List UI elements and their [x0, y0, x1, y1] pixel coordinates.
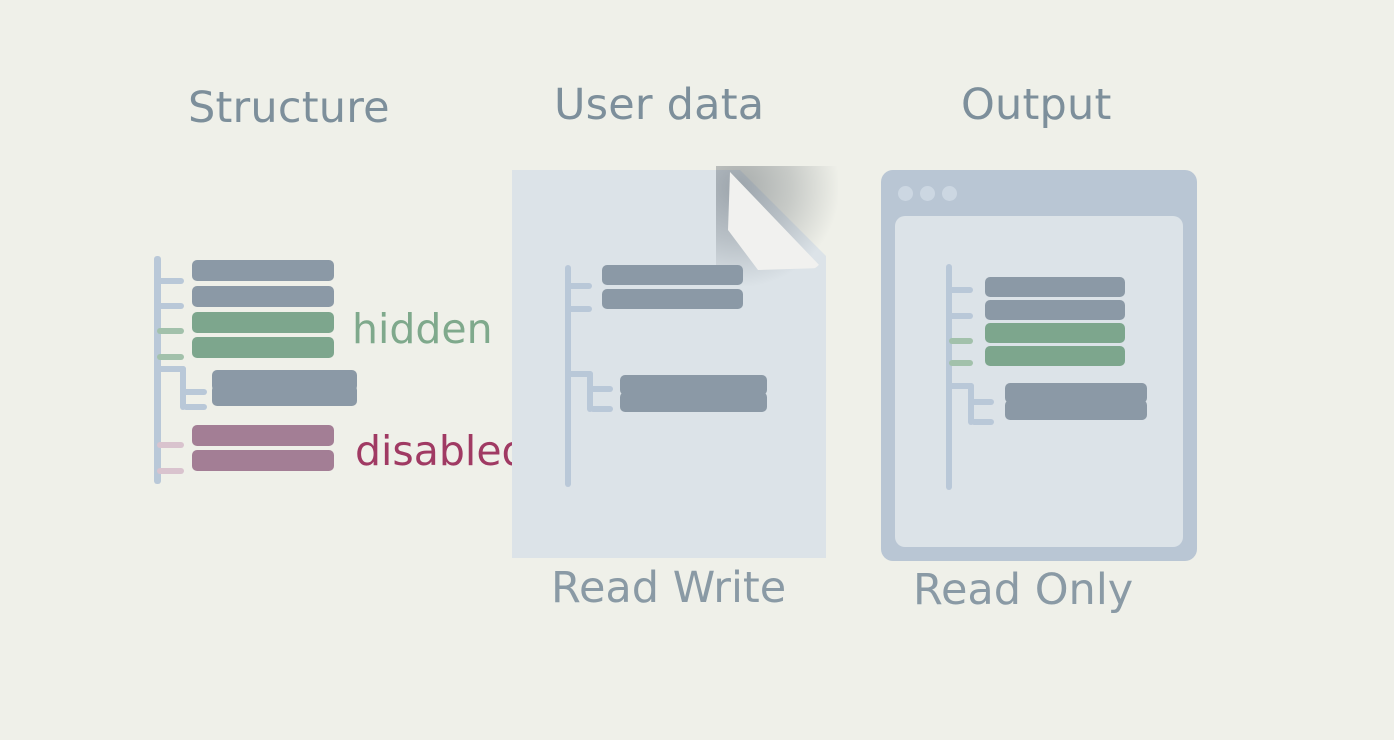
tree-row-bar-1[interactable] [602, 289, 743, 309]
tree-row-bar-5[interactable] [1005, 400, 1147, 420]
tree-row-bar-0[interactable] [985, 277, 1125, 297]
tree-row-bar-2[interactable] [192, 312, 334, 333]
tree-branch-stub-7 [157, 468, 184, 474]
column-caption-read-only: Read Only [913, 565, 1133, 615]
tree-row-bar-7[interactable] [192, 450, 334, 471]
column-heading-user-data: User data [554, 80, 764, 130]
tree-branch-stub-0 [568, 283, 592, 289]
tree-branch-stub-3 [949, 360, 973, 366]
tree-branch-stub-1 [157, 303, 184, 309]
tree-row-bar-3[interactable] [620, 392, 767, 412]
tree-branch-stub-5 [183, 404, 207, 410]
column-heading-output: Output [961, 80, 1112, 130]
tree-row-bar-6[interactable] [192, 425, 334, 446]
annotation-hidden: hidden [352, 305, 493, 353]
window-content-area [895, 216, 1183, 547]
tree-row-bar-2[interactable] [985, 323, 1125, 343]
tree-branch-stub-1 [568, 306, 592, 312]
tree-branch-stub-4 [971, 399, 994, 405]
column-caption-read-write: Read Write [551, 563, 786, 613]
tree-branch-stub-2 [590, 386, 613, 392]
tree-row-bar-1[interactable] [192, 286, 334, 307]
tree-trunk-line [946, 264, 952, 490]
tree-branch-stub-3 [157, 354, 184, 360]
tree-row-bar-0[interactable] [192, 260, 334, 281]
window-dot-close-icon[interactable] [898, 186, 913, 201]
tree-branch-stub-1 [949, 313, 973, 319]
tree-row-bar-1[interactable] [985, 300, 1125, 320]
tree-branch-stub-0 [157, 278, 184, 284]
tree-branch-stub-2 [949, 338, 973, 344]
tree-branch-stub-5 [971, 419, 994, 425]
column-heading-structure: Structure [188, 83, 390, 133]
tree-branch-stub-4 [183, 389, 207, 395]
tree-row-bar-5[interactable] [212, 385, 357, 406]
tree-branch-stub-0 [949, 287, 973, 293]
annotation-disabled: disabled [355, 427, 528, 475]
window-dot-minimize-icon[interactable] [920, 186, 935, 201]
tree-branch-stub-3 [590, 406, 613, 412]
tree-row-bar-0[interactable] [602, 265, 743, 285]
tree-row-bar-3[interactable] [985, 346, 1125, 366]
tree-branch-stub-6 [157, 442, 184, 448]
tree-row-bar-3[interactable] [192, 337, 334, 358]
diagram-canvas: Structure hidden disabled [0, 0, 1394, 740]
tree-branch-stub-2 [157, 328, 184, 334]
window-dot-maximize-icon[interactable] [942, 186, 957, 201]
